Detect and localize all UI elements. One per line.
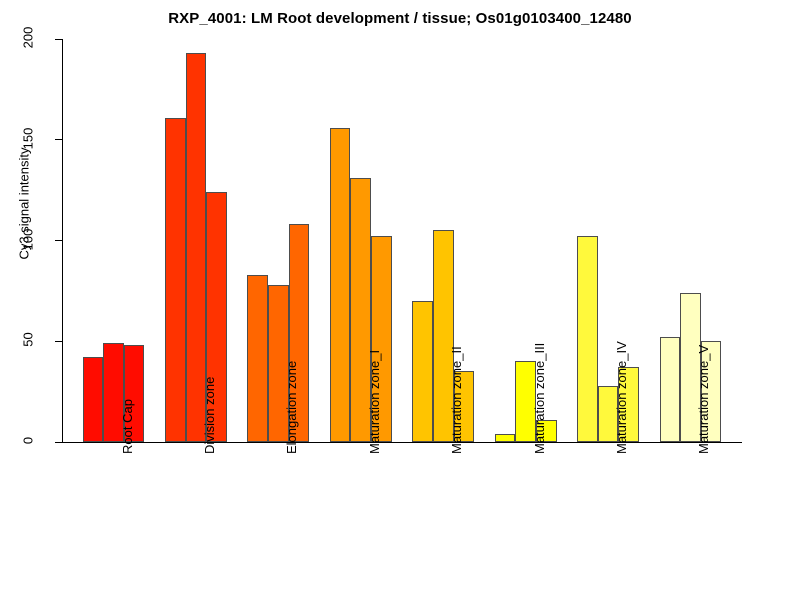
x-axis-label-group-1: Root Cap: [120, 399, 135, 454]
y-tick-label-150: 150: [21, 113, 36, 163]
bar: [412, 301, 433, 442]
x-axis-label-group-6: Maturation zone_III: [532, 343, 547, 454]
y-tick-200: [55, 39, 62, 40]
bar: [577, 236, 598, 442]
bar: [247, 275, 268, 442]
y-tick-label-50: 50: [21, 315, 36, 365]
x-axis-label-group-5: Maturation zone_II: [449, 346, 464, 454]
bar: [83, 357, 104, 442]
chart-title: RXP_4001: LM Root development / tissue; …: [0, 10, 800, 27]
x-axis-line: [62, 442, 742, 443]
x-axis-label-group-2: Division zone: [202, 377, 217, 454]
bar: [330, 128, 351, 442]
x-axis-label-group-3: Elongation zone: [284, 361, 299, 454]
x-axis-label-group-7: Maturation zone_IV: [614, 341, 629, 454]
plot-area: [62, 39, 742, 442]
y-tick-label-100: 100: [21, 214, 36, 264]
bar: [495, 434, 516, 442]
bar: [165, 118, 186, 442]
bar-chart: RXP_4001: LM Root development / tissue; …: [0, 0, 800, 600]
y-tick-150: [55, 139, 62, 140]
y-tick-100: [55, 240, 62, 241]
y-tick-label-200: 200: [21, 13, 36, 63]
bar: [660, 337, 681, 442]
y-tick-label-0: 0: [21, 416, 36, 466]
y-tick-0: [55, 442, 62, 443]
x-axis-label-group-8: Maturation zone_V: [696, 345, 711, 454]
x-axis-label-group-4: Maturation zone_I: [367, 350, 382, 454]
y-tick-50: [55, 341, 62, 342]
